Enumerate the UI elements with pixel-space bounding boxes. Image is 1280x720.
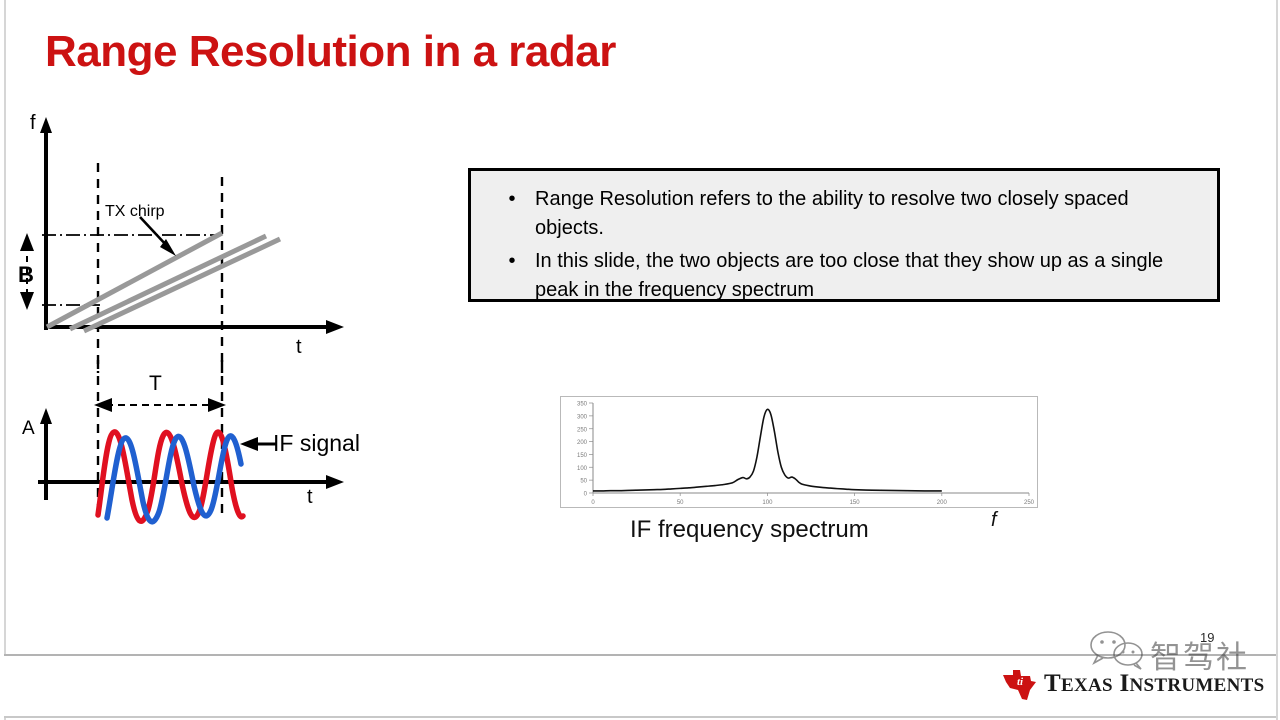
page-number: 19 xyxy=(1200,630,1214,645)
tx-chirp-annotation: TX chirp xyxy=(105,203,165,221)
if-x-axis-label: t xyxy=(307,486,313,509)
spectrum-curve xyxy=(593,409,942,491)
bullet-item: • Range Resolution refers to the ability… xyxy=(489,185,1199,243)
bandwidth-arrow-up xyxy=(20,233,34,251)
svg-text:0: 0 xyxy=(584,492,588,498)
texas-state-icon: ti xyxy=(1000,668,1040,702)
ti-word-nstruments: NSTRUMENTS xyxy=(1129,675,1264,696)
svg-text:300: 300 xyxy=(577,414,588,420)
svg-text:200: 200 xyxy=(577,440,588,446)
svg-text:0: 0 xyxy=(591,500,595,506)
svg-text:150: 150 xyxy=(850,500,861,506)
ti-word-exas: EXAS xyxy=(1061,675,1113,696)
if-y-arrowhead xyxy=(40,408,52,424)
texas-instruments-logo: ti TEXAS INSTRUMENTS xyxy=(1000,668,1232,704)
svg-text:350: 350 xyxy=(577,402,588,408)
svg-text:250: 250 xyxy=(1024,500,1035,506)
duration-arrow-left xyxy=(94,398,112,412)
slide-right-border xyxy=(1276,0,1278,720)
chirp-y-arrowhead xyxy=(40,117,52,133)
svg-text:100: 100 xyxy=(577,466,588,472)
bullet-item: • In this slide, the two objects are too… xyxy=(489,247,1199,305)
chirp-x-axis-label: t xyxy=(296,336,302,359)
ti-word-i: I xyxy=(1119,670,1129,697)
page-title: Range Resolution in a radar xyxy=(45,27,616,77)
footer-bottom-divider xyxy=(4,716,1276,718)
svg-text:ti: ti xyxy=(1017,676,1024,688)
bandwidth-arrow-down xyxy=(20,292,34,310)
spectrum-svg: 050100150200250300350050100150200250 xyxy=(561,397,1037,507)
bullet-marker: • xyxy=(489,185,535,214)
if-signal-pointer-head xyxy=(240,437,258,451)
chirp-x-arrowhead xyxy=(326,320,344,334)
info-textbox: • Range Resolution refers to the ability… xyxy=(468,168,1220,302)
svg-text:250: 250 xyxy=(577,427,588,433)
bullet-marker: • xyxy=(489,247,535,276)
svg-text:150: 150 xyxy=(577,453,588,459)
duration-arrow-right xyxy=(208,398,226,412)
ti-word-t: T xyxy=(1044,670,1061,697)
svg-text:50: 50 xyxy=(580,479,587,485)
svg-text:200: 200 xyxy=(937,500,948,506)
spectrum-axis-label: f xyxy=(991,509,997,532)
bullet-text: In this slide, the two objects are too c… xyxy=(535,247,1199,305)
chirp-diagram xyxy=(0,105,400,375)
bandwidth-label: B xyxy=(18,262,34,288)
if-y-axis-label: A xyxy=(22,418,35,440)
svg-text:100: 100 xyxy=(762,500,773,506)
chirp-svg xyxy=(0,105,400,375)
if-signal-annotation: IF signal xyxy=(273,430,360,457)
spectrum-caption: IF frequency spectrum xyxy=(630,516,869,544)
spectrum-plot: 050100150200250300350050100150200250 xyxy=(560,396,1038,508)
slide-canvas: Range Resolution in a radar xyxy=(0,0,1280,720)
bullet-text: Range Resolution refers to the ability t… xyxy=(535,185,1199,243)
svg-text:50: 50 xyxy=(677,500,684,506)
chirp-y-axis-label: f xyxy=(30,112,36,135)
duration-label: T xyxy=(149,372,162,396)
texas-instruments-wordmark: TEXAS INSTRUMENTS xyxy=(1044,670,1264,698)
if-x-arrowhead xyxy=(326,475,344,489)
